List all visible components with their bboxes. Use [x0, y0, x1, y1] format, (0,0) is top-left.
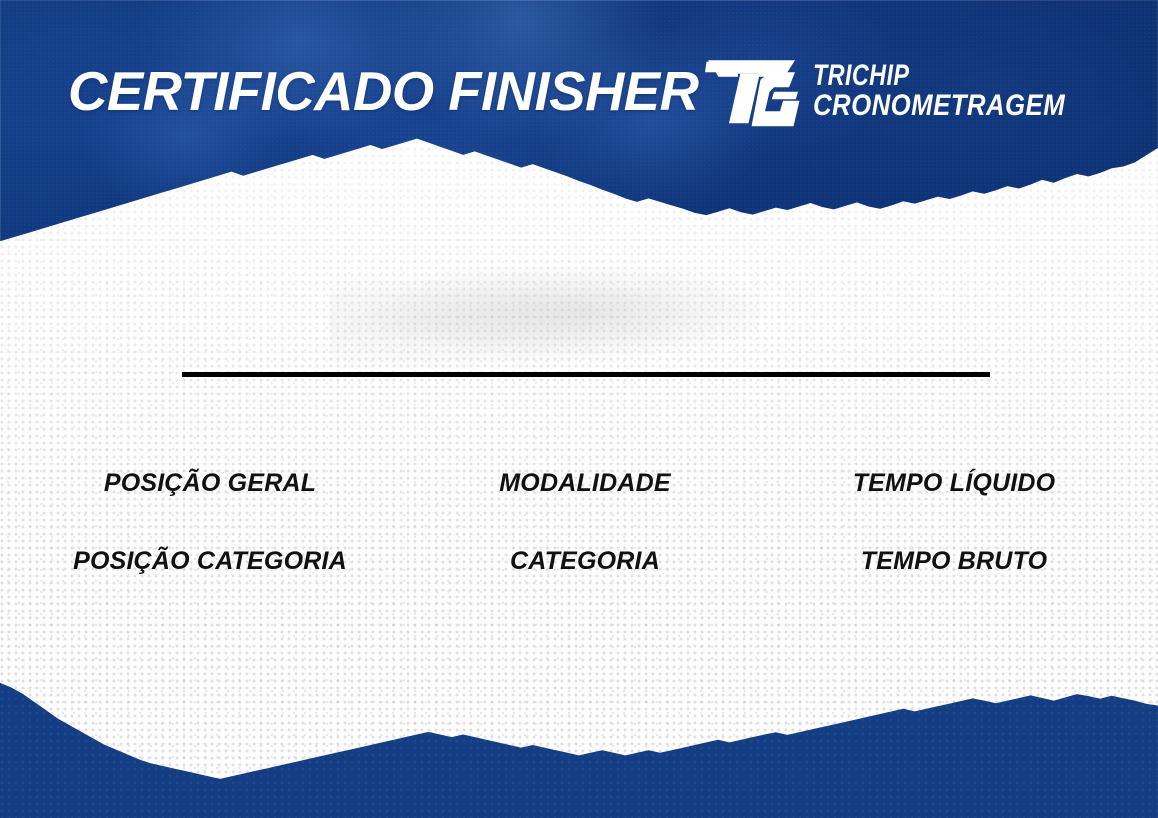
field-label-posicao-categoria: POSIÇÃO CATEGORIA [0, 548, 420, 576]
field-label-tempo-bruto: TEMPO BRUTO [750, 548, 1158, 576]
result-row: POSIÇÃO GERAL MODALIDADE TEMPO LÍQUIDO [0, 470, 1158, 498]
finisher-certificate: CERTIFICADO FINISHER TRICHIP CRONOMETRAG… [0, 0, 1158, 818]
certificate-body: POSIÇÃO GERAL MODALIDADE TEMPO LÍQUIDO P… [0, 300, 1158, 660]
result-fields: POSIÇÃO GERAL MODALIDADE TEMPO LÍQUIDO P… [0, 470, 1158, 575]
result-row: POSIÇÃO CATEGORIA CATEGORIA TEMPO BRUTO [0, 548, 1158, 576]
field-label-tempo-liquido: TEMPO LÍQUIDO [750, 470, 1158, 498]
field-label-modalidade: MODALIDADE [420, 470, 750, 498]
field-label-posicao-geral: POSIÇÃO GERAL [0, 470, 420, 498]
logo-text-cronometragem: CRONOMETRAGEM [813, 92, 1065, 120]
trichip-logo: TRICHIP CRONOMETRAGEM [705, 54, 1106, 128]
participant-name-line [182, 372, 990, 377]
logo-wordmark: TRICHIP CRONOMETRAGEM [813, 62, 1106, 119]
header-content: CERTIFICADO FINISHER TRICHIP CRONOMETRAG… [0, 0, 1158, 178]
certificate-title: CERTIFICADO FINISHER [68, 64, 698, 119]
tc-monogram-icon [705, 54, 801, 128]
logo-text-trichip: TRICHIP [813, 62, 1042, 90]
field-label-categoria: CATEGORIA [420, 548, 750, 576]
